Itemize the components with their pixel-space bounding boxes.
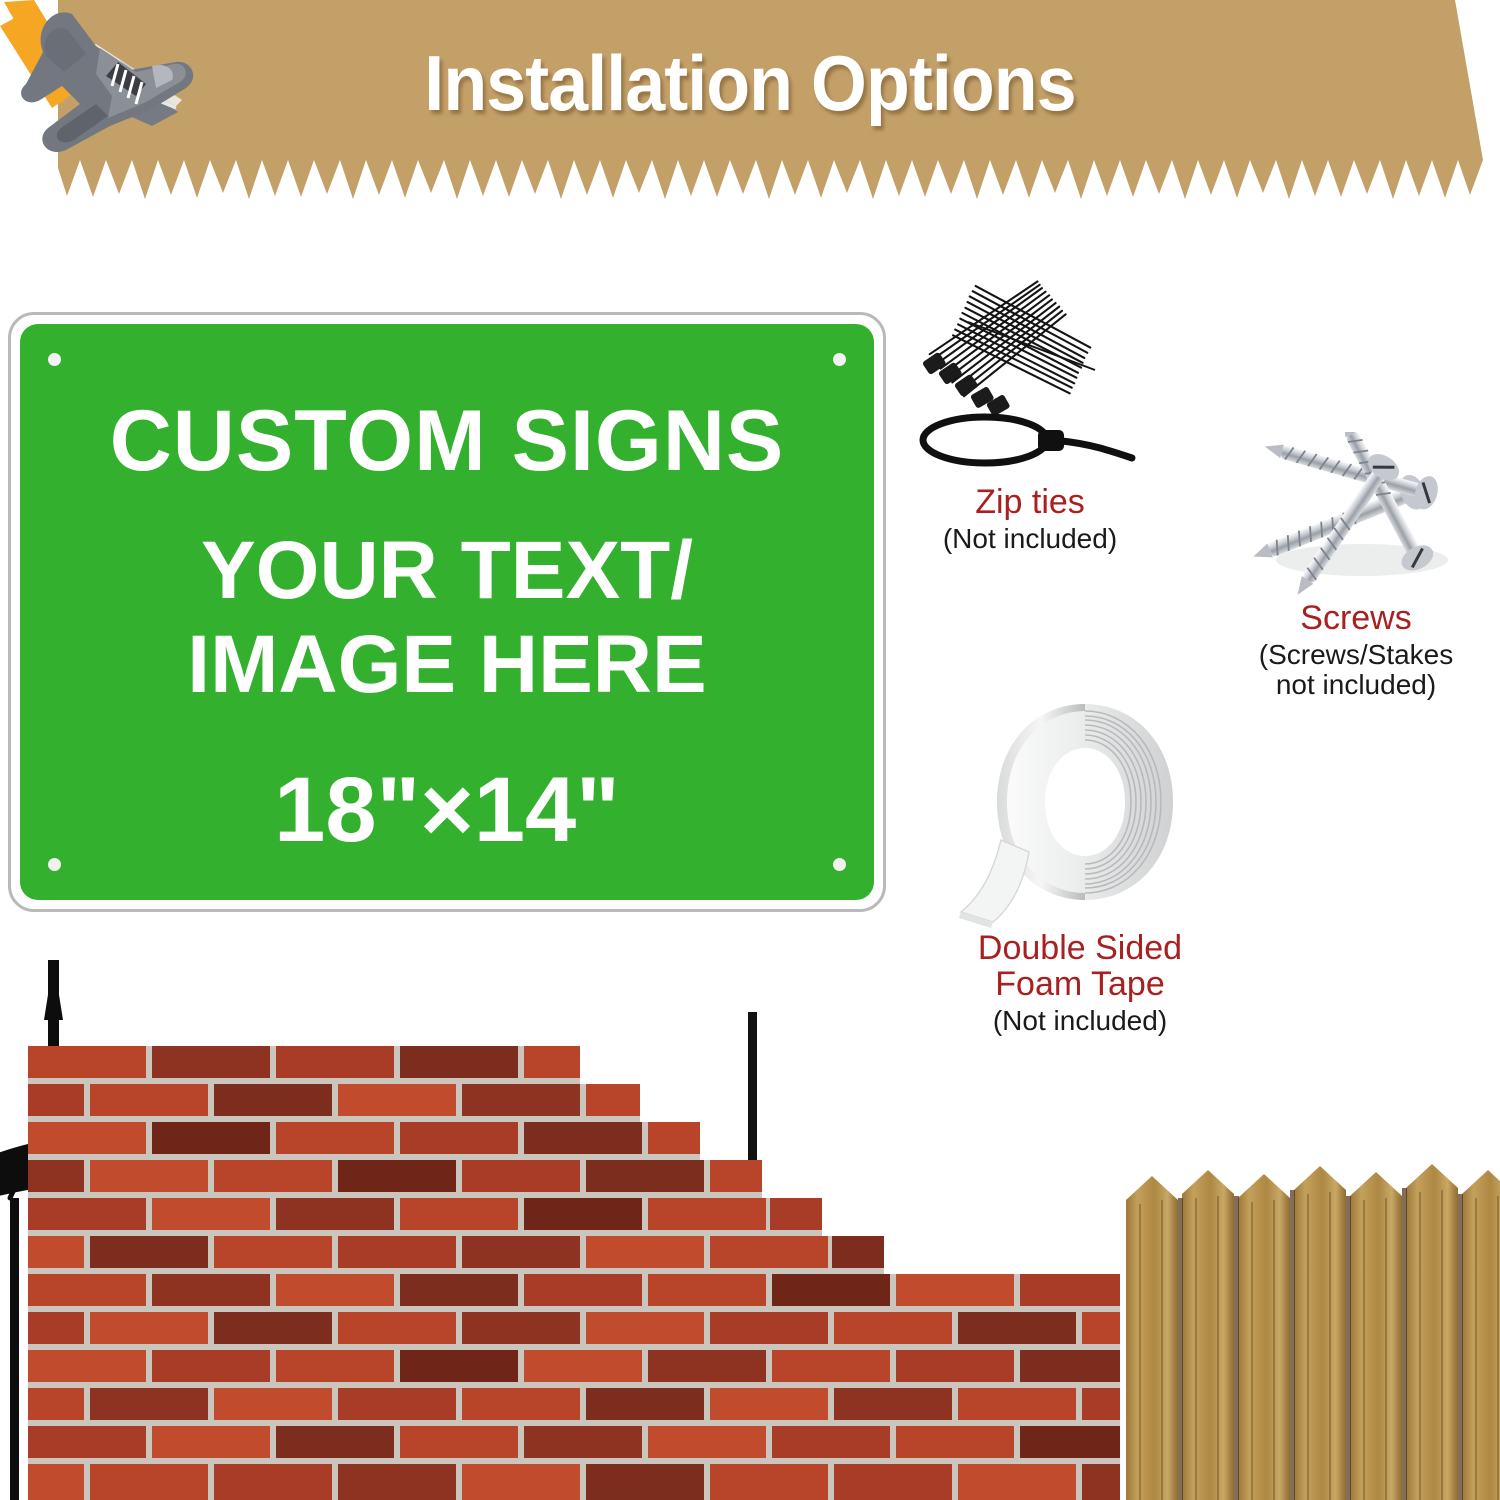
sign-dimensions: 18"×14" xyxy=(20,764,874,856)
mount-hole-bottom-left xyxy=(48,858,61,871)
zip-ties-note: (Not included) xyxy=(880,524,1180,554)
foam-tape-icon xyxy=(935,690,1225,930)
sign-line-3: IMAGE HERE xyxy=(20,624,874,706)
zip-ties-art xyxy=(880,262,1180,484)
screws-note: (Screws/Stakes not included) xyxy=(1212,640,1500,700)
screws-icon xyxy=(1212,432,1500,600)
zip-ties-label: Zip ties xyxy=(880,484,1180,520)
screws-label: Screws xyxy=(1212,600,1500,636)
wooden-picket-fence xyxy=(1126,1164,1500,1500)
accessory-screws: Screws (Screws/Stakes not included) xyxy=(1212,432,1500,701)
single-zip-tie xyxy=(923,417,1132,463)
screws-note-line-1: (Screws/Stakes xyxy=(1212,640,1500,670)
infographic-canvas: Installation Options CUSTOM SIGNS YOUR T… xyxy=(0,0,1500,1500)
sign-line-2: YOUR TEXT/ xyxy=(20,530,874,612)
zip-ties-icon xyxy=(880,262,1180,484)
mount-hole-bottom-right xyxy=(833,858,846,871)
header-banner: Installation Options xyxy=(0,0,1500,225)
accessory-zip-ties: Zip ties (Not included) xyxy=(880,262,1180,554)
screws-note-line-2: not included) xyxy=(1212,670,1500,700)
custom-sign-preview: CUSTOM SIGNS YOUR TEXT/ IMAGE HERE 18"×1… xyxy=(8,312,886,912)
surfaces-art xyxy=(0,960,1500,1500)
mount-hole-top-right xyxy=(833,353,846,366)
screws-art xyxy=(1212,432,1500,600)
surface-examples xyxy=(0,960,1500,1500)
sign-face: CUSTOM SIGNS YOUR TEXT/ IMAGE HERE 18"×1… xyxy=(20,324,874,900)
page-title: Installation Options xyxy=(60,38,1440,129)
mount-hole-top-left xyxy=(48,353,61,366)
sign-heading: CUSTOM SIGNS xyxy=(20,398,874,484)
brick-wall xyxy=(20,1040,1140,1500)
foam-tape-art xyxy=(935,690,1225,930)
